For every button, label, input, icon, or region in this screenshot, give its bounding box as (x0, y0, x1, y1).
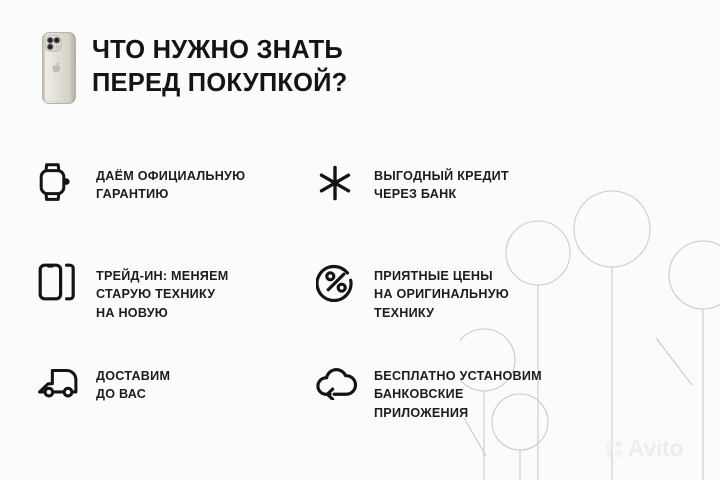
percent-discount-icon (316, 260, 360, 304)
avito-watermark-text: Avito (628, 437, 683, 460)
two-phones-tradein-icon (38, 260, 82, 304)
delivery-truck-icon (38, 360, 82, 404)
feature-label: ВЫГОДНЫЙ КРЕДИТ ЧЕРЕЗ БАНК (374, 160, 509, 204)
features-column-right: ВЫГОДНЫЙ КРЕДИТ ЧЕРЕЗ БАНК ПРИЯТНЫЕ ЦЕНЫ… (316, 160, 616, 460)
smartwatch-icon (38, 160, 82, 204)
feature-label: ДАЁМ ОФИЦИАЛЬНУЮ ГАРАНТИЮ (96, 160, 245, 204)
feature-trade-in: ТРЕЙД-ИН: МЕНЯЕМ СТАРУЮ ТЕХНИКУ НА НОВУЮ (38, 260, 338, 360)
feature-bank-credit: ВЫГОДНЫЙ КРЕДИТ ЧЕРЕЗ БАНК (316, 160, 616, 260)
features-column-left: ДАЁМ ОФИЦИАЛЬНУЮ ГАРАНТИЮ ТРЕЙД-ИН: МЕНЯ… (38, 160, 338, 460)
feature-label: ДОСТАВИМ ДО ВАС (96, 360, 170, 404)
feature-label: БЕСПЛАТНО УСТАНОВИМ БАНКОВСКИЕ ПРИЛОЖЕНИ… (374, 360, 542, 422)
asterisk-star-icon (316, 161, 360, 205)
promo-poster: Avito (0, 0, 720, 480)
feature-bank-apps-install: БЕСПЛАТНО УСТАНОВИМ БАНКОВСКИЕ ПРИЛОЖЕНИ… (316, 360, 616, 460)
feature-official-warranty: ДАЁМ ОФИЦИАЛЬНУЮ ГАРАНТИЮ (38, 160, 338, 260)
iphone-pro-titanium-back-image (42, 32, 76, 104)
page-title: ЧТО НУЖНО ЗНАТЬ ПЕРЕД ПОКУПКОЙ? (92, 28, 347, 100)
cloud-download-icon (316, 360, 360, 404)
feature-label: ПРИЯТНЫЕ ЦЕНЫ НА ОРИГИНАЛЬНУЮ ТЕХНИКУ (374, 260, 509, 322)
feature-fair-prices: ПРИЯТНЫЕ ЦЕНЫ НА ОРИГИНАЛЬНУЮ ТЕХНИКУ (316, 260, 616, 360)
poster-header: ЧТО НУЖНО ЗНАТЬ ПЕРЕД ПОКУПКОЙ? (42, 28, 347, 104)
feature-delivery: ДОСТАВИМ ДО ВАС (38, 360, 338, 460)
feature-label: ТРЕЙД-ИН: МЕНЯЕМ СТАРУЮ ТЕХНИКУ НА НОВУЮ (96, 260, 228, 322)
